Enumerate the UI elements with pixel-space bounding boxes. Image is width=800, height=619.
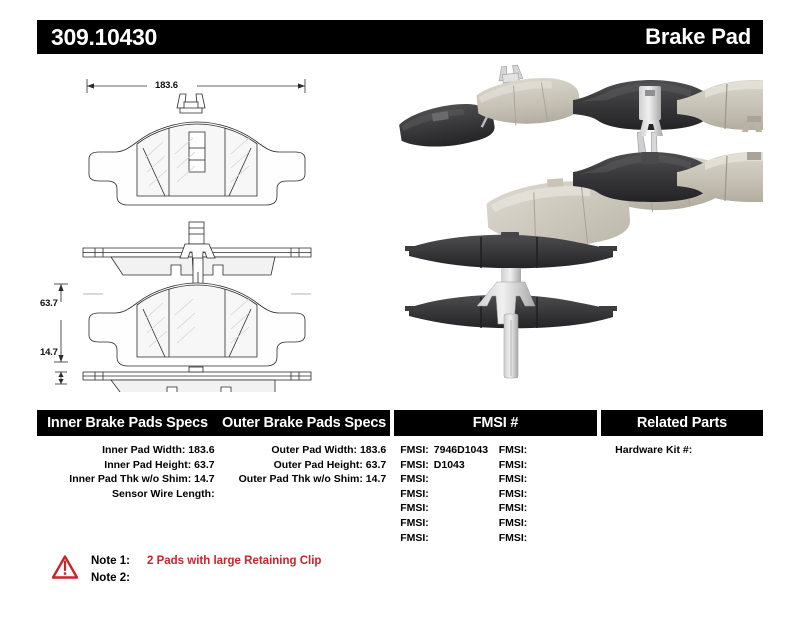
part-number: 309.10430	[51, 24, 157, 51]
note-2-row: Note 2:	[91, 570, 321, 587]
note-lines: Note 1: 2 Pads with large Retaining Clip…	[91, 553, 321, 587]
fmsi-label: FMSI:	[400, 458, 429, 473]
fmsi-value: 7946D1043	[429, 443, 488, 458]
table-body-row: Inner Pad Width: 183.6 Inner Pad Height:…	[37, 443, 763, 545]
fmsi-value	[527, 443, 532, 458]
fmsi-row: FMSI:	[400, 472, 499, 487]
fmsi-value	[527, 458, 532, 473]
fmsi-row: FMSI:	[400, 487, 499, 502]
fmsi-label: FMSI:	[499, 443, 528, 458]
fmsi-value	[429, 501, 434, 516]
fmsi-value	[527, 501, 532, 516]
technical-drawing: 183.6 63.7 14.7	[37, 62, 377, 392]
fmsi-column-left: FMSI: 7946D1043 FMSI: D1043 FMSI: FMSI:	[400, 443, 499, 545]
fmsi-value	[527, 516, 532, 531]
fmsi-label: FMSI:	[499, 531, 528, 546]
fmsi-value	[429, 516, 434, 531]
fmsi-column-right: FMSI: FMSI: FMSI: FMSI:	[499, 443, 598, 545]
title-bar: 309.10430 Brake Pad	[37, 20, 763, 54]
note-2-text	[139, 570, 147, 587]
specifications-table: Inner Brake Pads Specs Outer Brake Pads …	[37, 410, 763, 545]
spec-line: Inner Pad Height: 63.7	[37, 458, 215, 473]
fmsi-label: FMSI:	[400, 443, 429, 458]
fmsi-row: FMSI: D1043	[400, 458, 499, 473]
fmsi-cell: FMSI: 7946D1043 FMSI: D1043 FMSI: FMSI:	[393, 443, 597, 545]
fmsi-row: FMSI:	[499, 472, 598, 487]
fmsi-label: FMSI:	[400, 516, 429, 531]
thickness-dimension-label: 14.7	[40, 347, 58, 358]
spec-line: Inner Pad Width: 183.6	[37, 443, 215, 458]
fmsi-label: FMSI:	[499, 501, 528, 516]
brake-pad-blueprint	[37, 62, 377, 392]
fmsi-label: FMSI:	[499, 472, 528, 487]
fmsi-value	[429, 487, 434, 502]
spec-line: Sensor Wire Length:	[37, 487, 215, 502]
note-2-label: Note 2:	[91, 570, 139, 587]
fmsi-row: FMSI: 7946D1043	[400, 443, 499, 458]
fmsi-row: FMSI:	[499, 501, 598, 516]
note-1-text: 2 Pads with large Retaining Clip	[139, 553, 321, 570]
column-header-related-parts: Related Parts	[601, 410, 763, 436]
fmsi-value	[429, 472, 434, 487]
outer-specs-cell: Outer Pad Width: 183.6 Outer Pad Height:…	[218, 443, 390, 545]
fmsi-value	[527, 472, 532, 487]
notes-section: Note 1: 2 Pads with large Retaining Clip…	[52, 553, 321, 587]
fmsi-grid: FMSI: 7946D1043 FMSI: D1043 FMSI: FMSI:	[400, 443, 597, 545]
fmsi-label: FMSI:	[499, 487, 528, 502]
fmsi-label: FMSI:	[499, 458, 528, 473]
product-type-label: Brake Pad	[645, 24, 751, 50]
brake-pad-photographs	[385, 62, 763, 392]
fmsi-row: FMSI:	[499, 443, 598, 458]
fmsi-value	[527, 487, 532, 502]
spec-line: Inner Pad Thk w/o Shim: 14.7	[37, 472, 215, 487]
column-header-inner-specs: Inner Brake Pads Specs	[37, 410, 218, 436]
fmsi-row: FMSI:	[400, 501, 499, 516]
fmsi-value	[527, 531, 532, 546]
height-dimension-label: 63.7	[40, 298, 58, 309]
spec-line: Outer Pad Height: 63.7	[218, 458, 387, 473]
fmsi-row: FMSI:	[400, 516, 499, 531]
fmsi-label: FMSI:	[499, 516, 528, 531]
fmsi-row: FMSI:	[499, 516, 598, 531]
fmsi-row: FMSI:	[499, 487, 598, 502]
related-parts-cell: Hardware Kit #:	[601, 443, 763, 545]
fmsi-label: FMSI:	[400, 501, 429, 516]
hardware-kit-line: Hardware Kit #:	[615, 443, 763, 458]
column-header-fmsi: FMSI #	[394, 410, 597, 436]
warning-triangle-icon	[52, 555, 78, 579]
column-header-outer-specs: Outer Brake Pads Specs	[218, 410, 390, 436]
fmsi-label: FMSI:	[400, 531, 429, 546]
width-dimension-label: 183.6	[155, 80, 178, 91]
note-1-label: Note 1:	[91, 553, 139, 570]
product-photos	[385, 62, 763, 392]
fmsi-label: FMSI:	[400, 472, 429, 487]
fmsi-label: FMSI:	[400, 487, 429, 502]
spec-line: Outer Pad Thk w/o Shim: 14.7	[218, 472, 387, 487]
table-header-row: Inner Brake Pads Specs Outer Brake Pads …	[37, 410, 763, 436]
fmsi-row: FMSI:	[499, 531, 598, 546]
fmsi-value	[429, 531, 434, 546]
fmsi-row: FMSI:	[499, 458, 598, 473]
note-1-row: Note 1: 2 Pads with large Retaining Clip	[91, 553, 321, 570]
fmsi-row: FMSI:	[400, 531, 499, 546]
inner-specs-cell: Inner Pad Width: 183.6 Inner Pad Height:…	[37, 443, 218, 545]
spec-line: Outer Pad Width: 183.6	[218, 443, 387, 458]
fmsi-value: D1043	[429, 458, 465, 473]
